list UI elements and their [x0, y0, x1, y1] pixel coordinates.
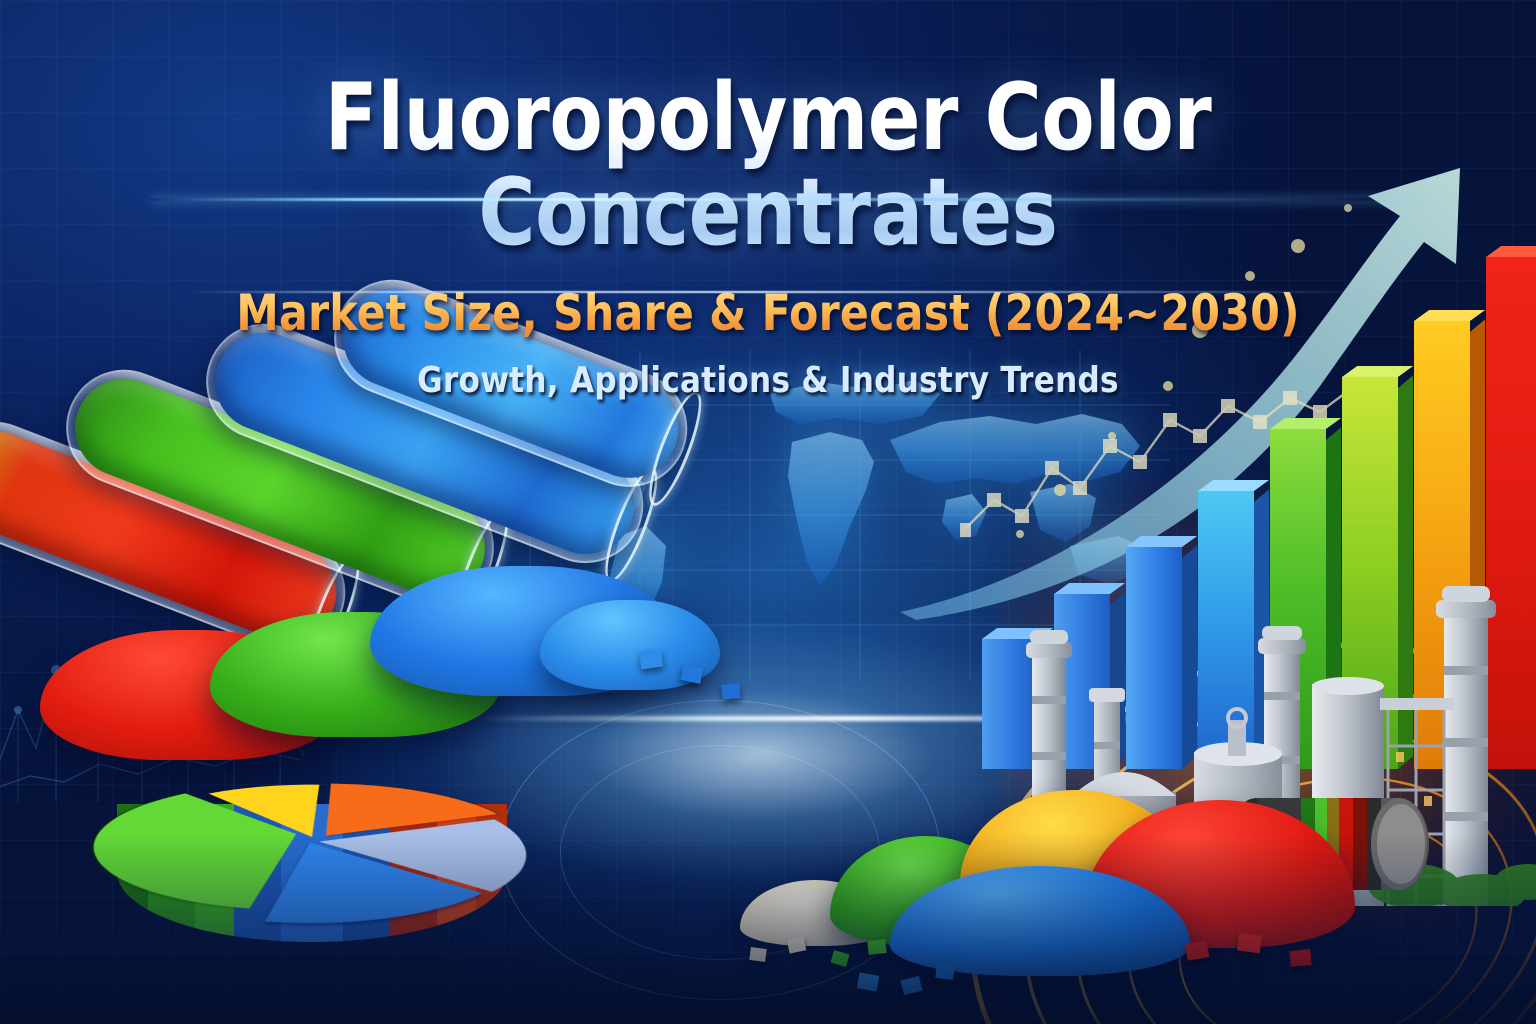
page-tagline: Growth, Applications & Industry Trends — [31, 360, 1506, 401]
banner-header: Fluoropolymer Color Concentrates Market … — [0, 70, 1536, 401]
banner-canvas: Fluoropolymer Color Concentrates Market … — [0, 0, 1536, 1024]
divider-secondary — [186, 291, 1386, 293]
divider-primary — [150, 198, 1420, 201]
floor-reflection — [0, 834, 1536, 1024]
page-title: Fluoropolymer Color Concentrates — [54, 70, 1482, 260]
test-tube-group — [0, 355, 680, 755]
